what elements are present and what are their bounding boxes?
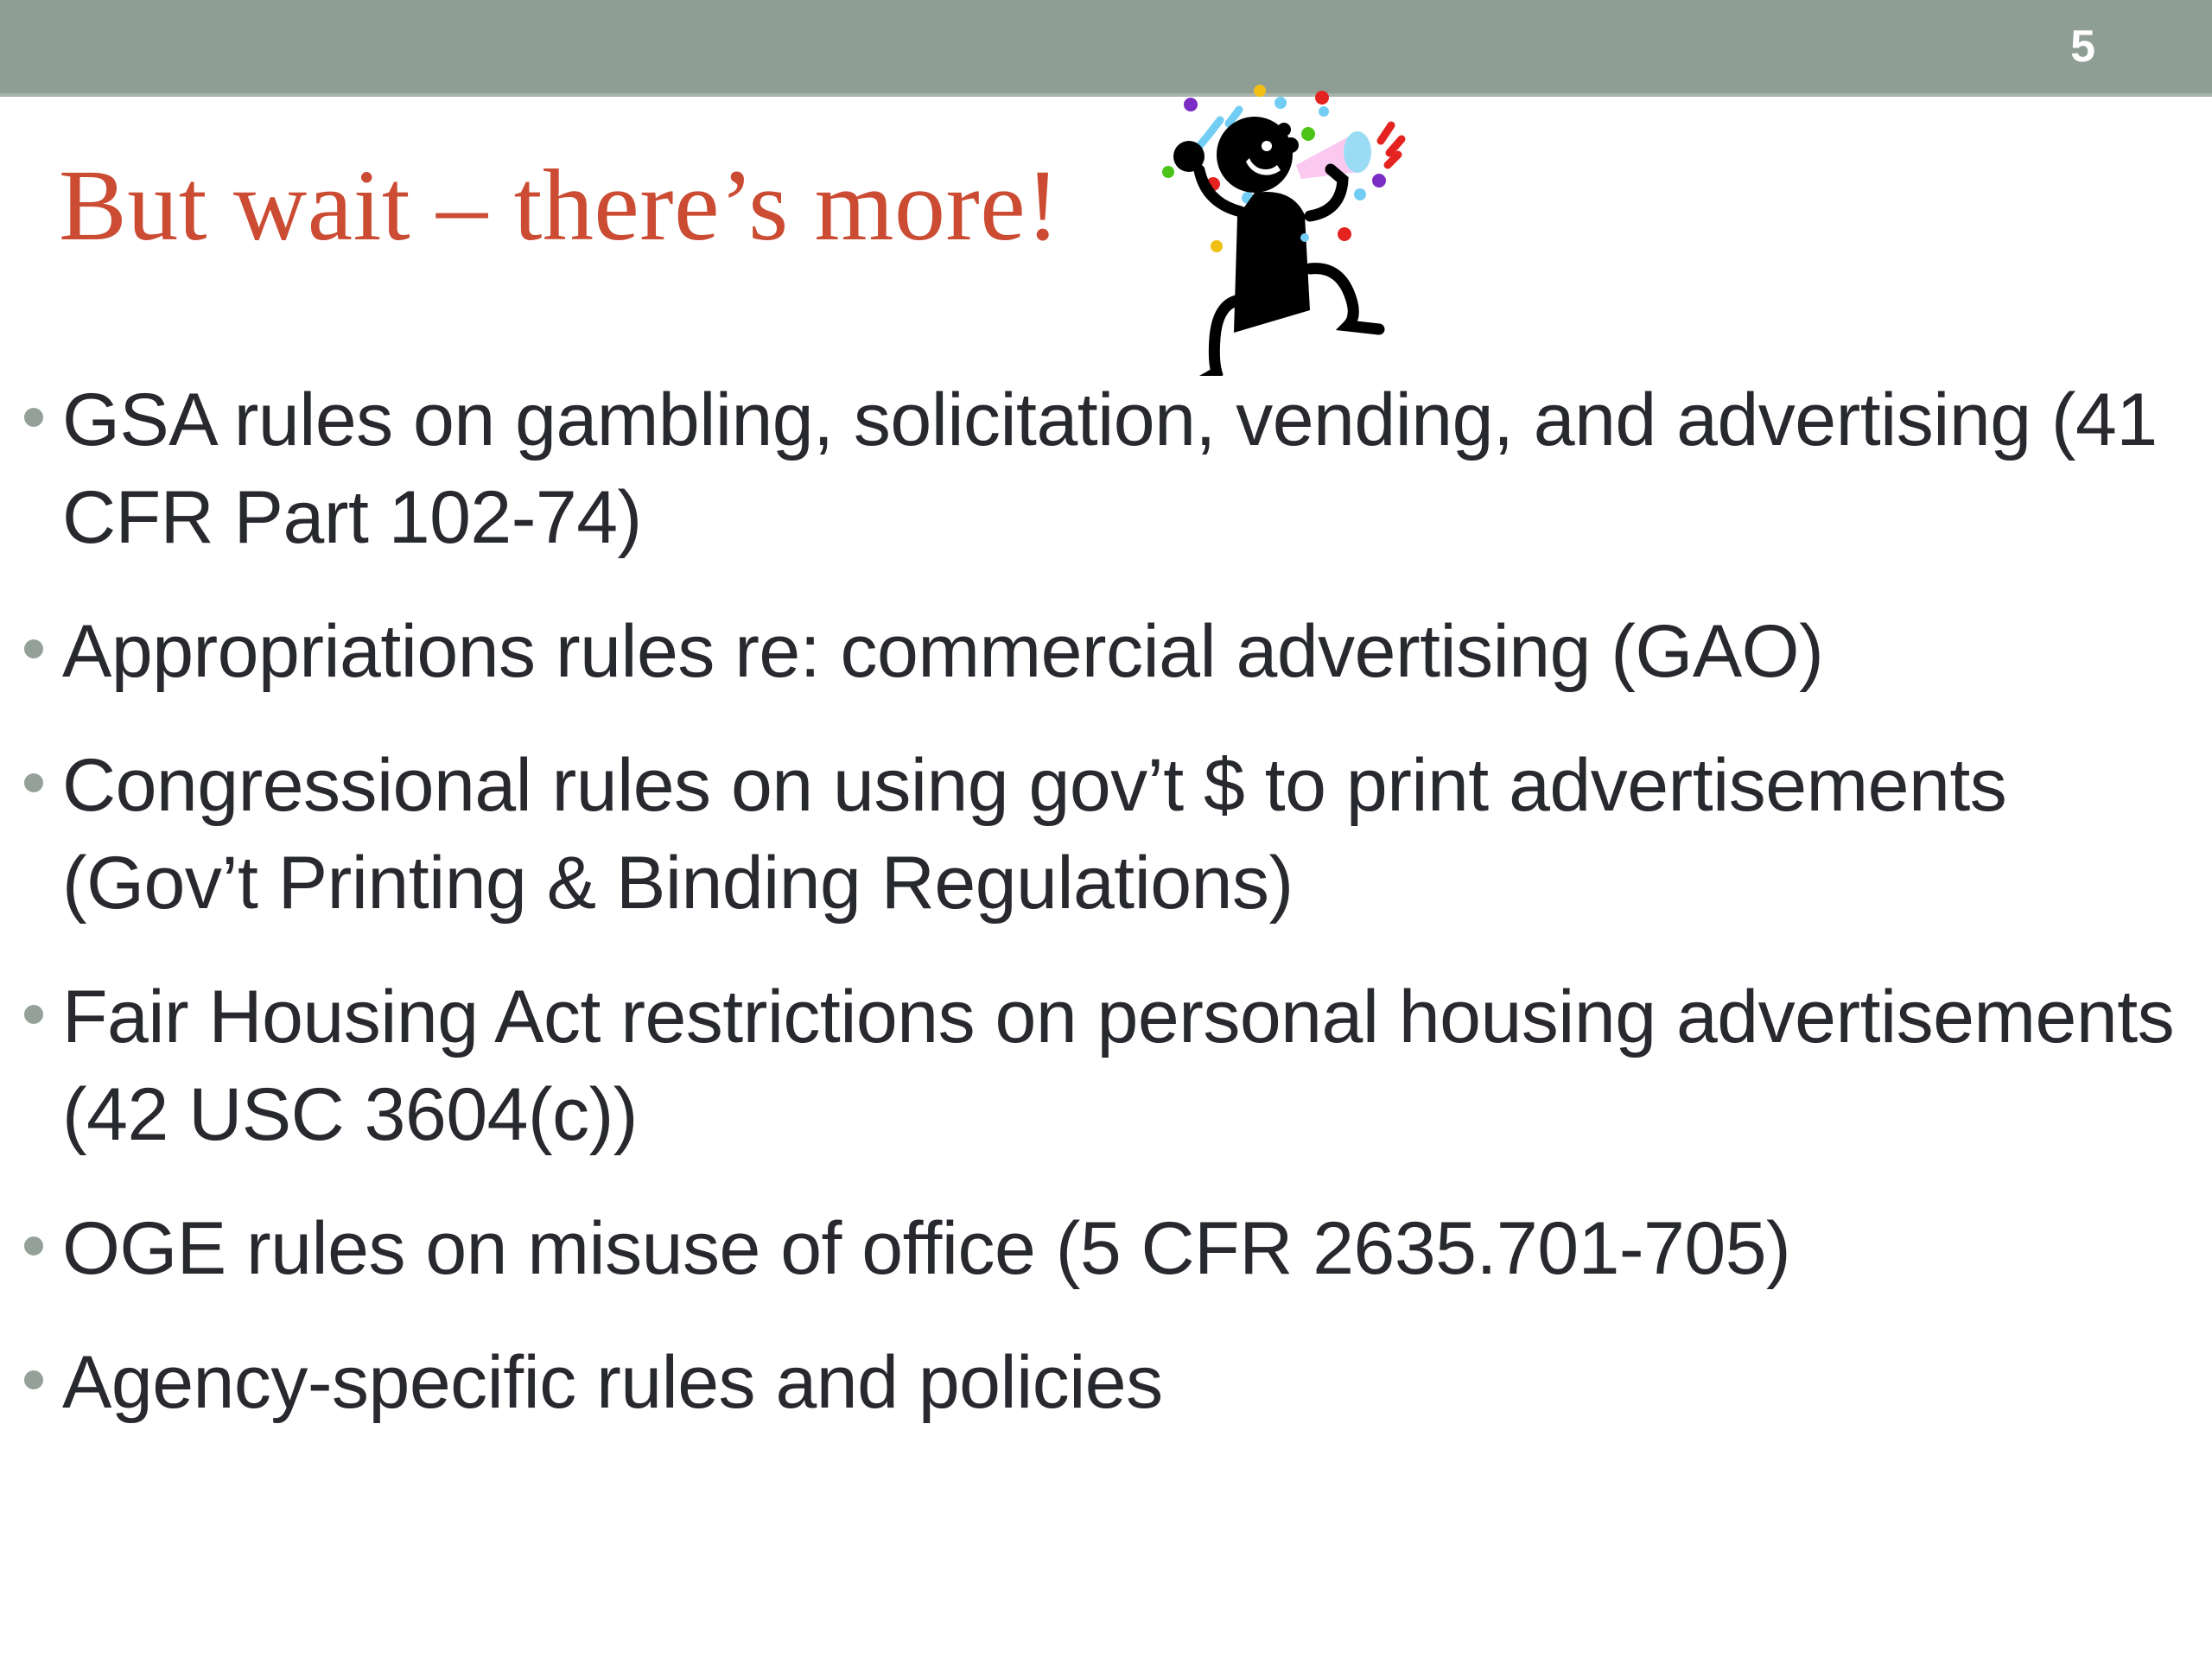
list-item: Appropriations rules re: commercial adve… bbox=[0, 603, 2212, 701]
bullet-list: GSA rules on gambling, solicitation, ven… bbox=[0, 372, 2212, 1468]
bullet-dot-icon bbox=[24, 1370, 43, 1389]
header-divider bbox=[0, 93, 2212, 97]
list-item: Fair Housing Act restrictions on persona… bbox=[0, 969, 2212, 1164]
bullet-dot-icon bbox=[24, 773, 43, 792]
header-band bbox=[0, 0, 2212, 93]
page-title: But wait – there’s more! bbox=[59, 145, 1060, 266]
list-item-label: Fair Housing Act restrictions on persona… bbox=[62, 969, 2196, 1164]
list-item-label: GSA rules on gambling, solicitation, ven… bbox=[62, 372, 2196, 567]
list-item: GSA rules on gambling, solicitation, ven… bbox=[0, 372, 2212, 567]
list-item-label: Appropriations rules re: commercial adve… bbox=[62, 603, 2212, 701]
bullet-dot-icon bbox=[24, 1236, 43, 1255]
list-item-label: Congressional rules on using gov’t $ to … bbox=[62, 737, 2212, 932]
page-number: 5 bbox=[2070, 7, 2095, 86]
list-item: OGE rules on misuse of office (5 CFR 263… bbox=[0, 1200, 2212, 1298]
bullet-dot-icon bbox=[24, 408, 43, 427]
bullet-dot-icon bbox=[24, 639, 43, 658]
bullet-dot-icon bbox=[24, 1005, 43, 1024]
running-figure-with-megaphone-icon bbox=[1149, 82, 1434, 376]
list-item: Agency-specific rules and policies bbox=[0, 1334, 2212, 1432]
list-item-label: Agency-specific rules and policies bbox=[62, 1334, 2196, 1432]
slide: 5 But wait – there’s more! bbox=[0, 0, 2212, 1659]
list-item: Congressional rules on using gov’t $ to … bbox=[0, 737, 2212, 932]
list-item-label: OGE rules on misuse of office (5 CFR 263… bbox=[62, 1200, 2196, 1298]
